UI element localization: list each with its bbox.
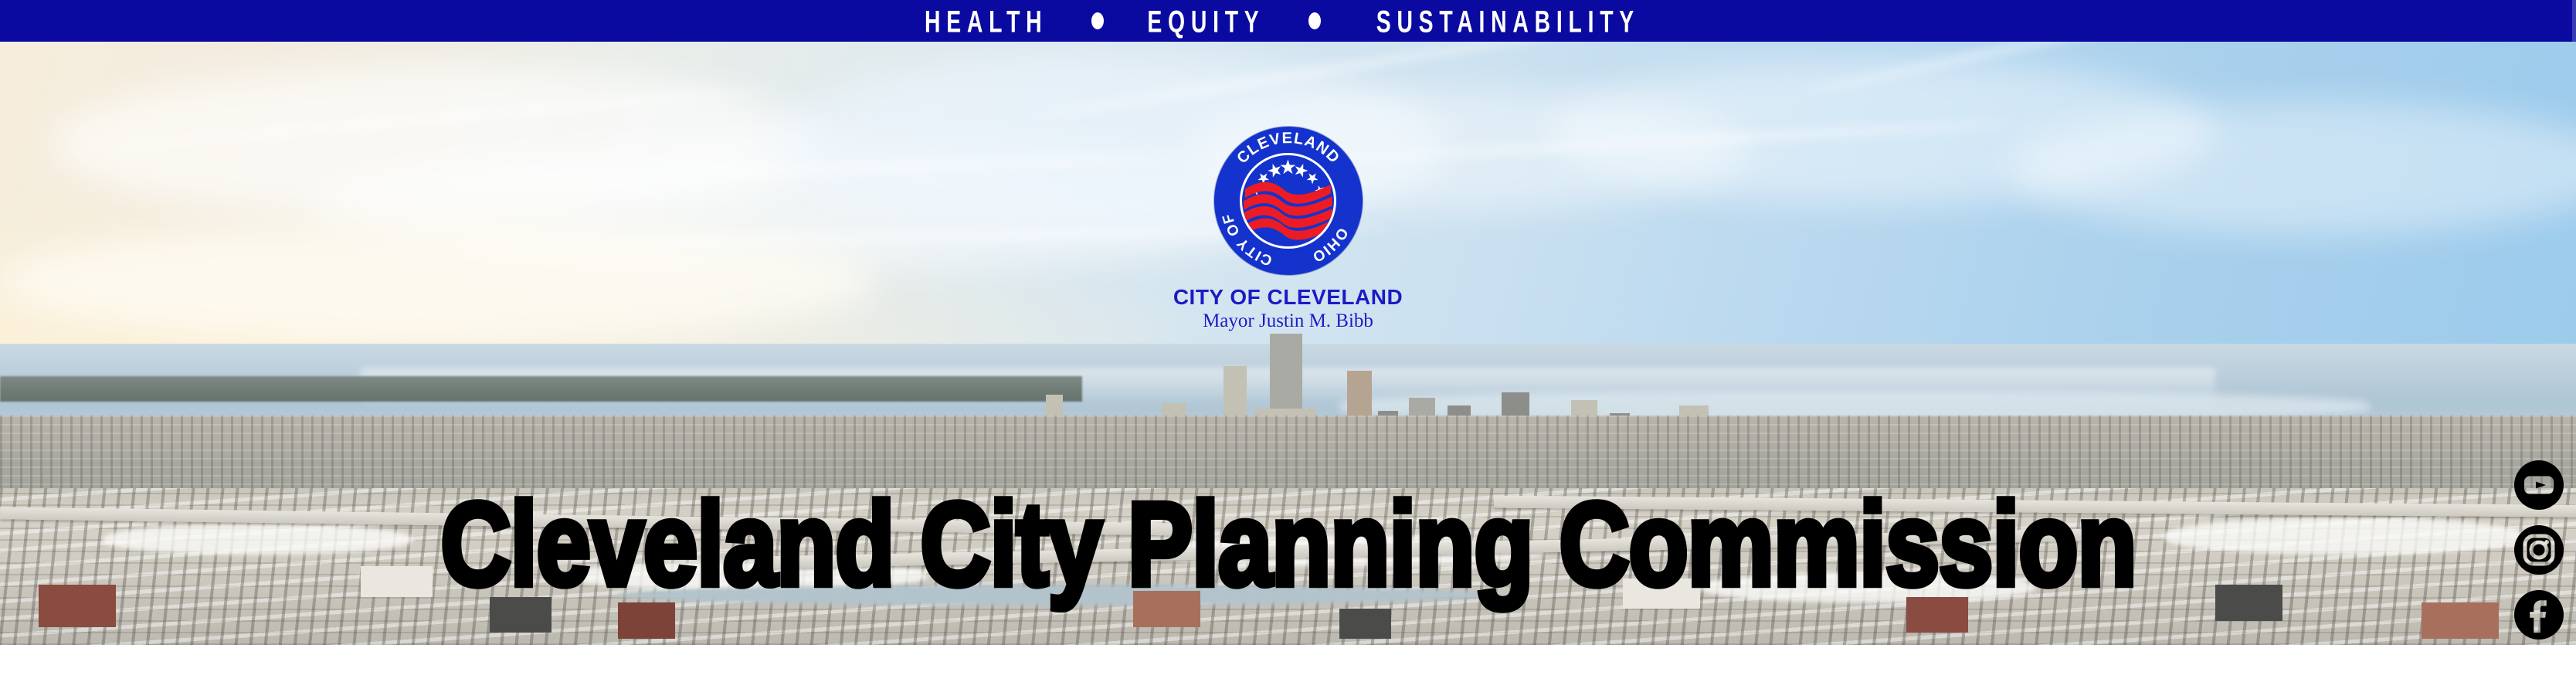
building-block <box>361 566 433 596</box>
city-branding-block: CLEVELAND OHIO CITY OF <box>1126 127 1451 332</box>
tagline-banner-inner: HEALTH EQUITY SUSTAINABILITY <box>915 8 1661 34</box>
mayor-name: Mayor Justin M. Bibb <box>1126 311 1451 331</box>
tagline-word-sustainability: SUSTAINABILITY <box>1376 5 1640 36</box>
page-title: Cleveland City Planning Commission <box>440 485 2136 603</box>
city-of-cleveland-seal: CLEVELAND OHIO CITY OF <box>1214 127 1363 275</box>
building-block <box>39 585 116 627</box>
social-links <box>2513 459 2565 641</box>
seal-inner-field <box>1240 153 1336 249</box>
instagram-icon[interactable] <box>2513 524 2565 576</box>
hero-photo: CLEVELAND OHIO CITY OF <box>0 42 2576 645</box>
building-block <box>2215 585 2282 621</box>
tagline-separator-dot-2 <box>1308 12 1321 29</box>
far-shoreline <box>0 376 1082 402</box>
tagline-separator-dot-1 <box>1091 12 1104 29</box>
tagline-word-equity: EQUITY <box>1148 5 1265 36</box>
building-block <box>1339 609 1391 639</box>
snow-patch <box>103 524 412 555</box>
youtube-icon[interactable] <box>2513 459 2565 511</box>
snow-patch <box>2164 518 2524 555</box>
page-root: HEALTH EQUITY SUSTAINABILITY <box>0 0 2576 682</box>
banner-right-edge <box>2572 0 2576 42</box>
tagline-word-health: HEALTH <box>925 5 1047 36</box>
city-name-wordmark: CITY OF CLEVELAND <box>1126 286 1451 308</box>
facebook-icon[interactable] <box>2513 589 2565 641</box>
tagline-banner: HEALTH EQUITY SUSTAINABILITY <box>0 0 2576 42</box>
seal-waving-flag <box>1242 178 1334 246</box>
building-block <box>2422 602 2499 639</box>
